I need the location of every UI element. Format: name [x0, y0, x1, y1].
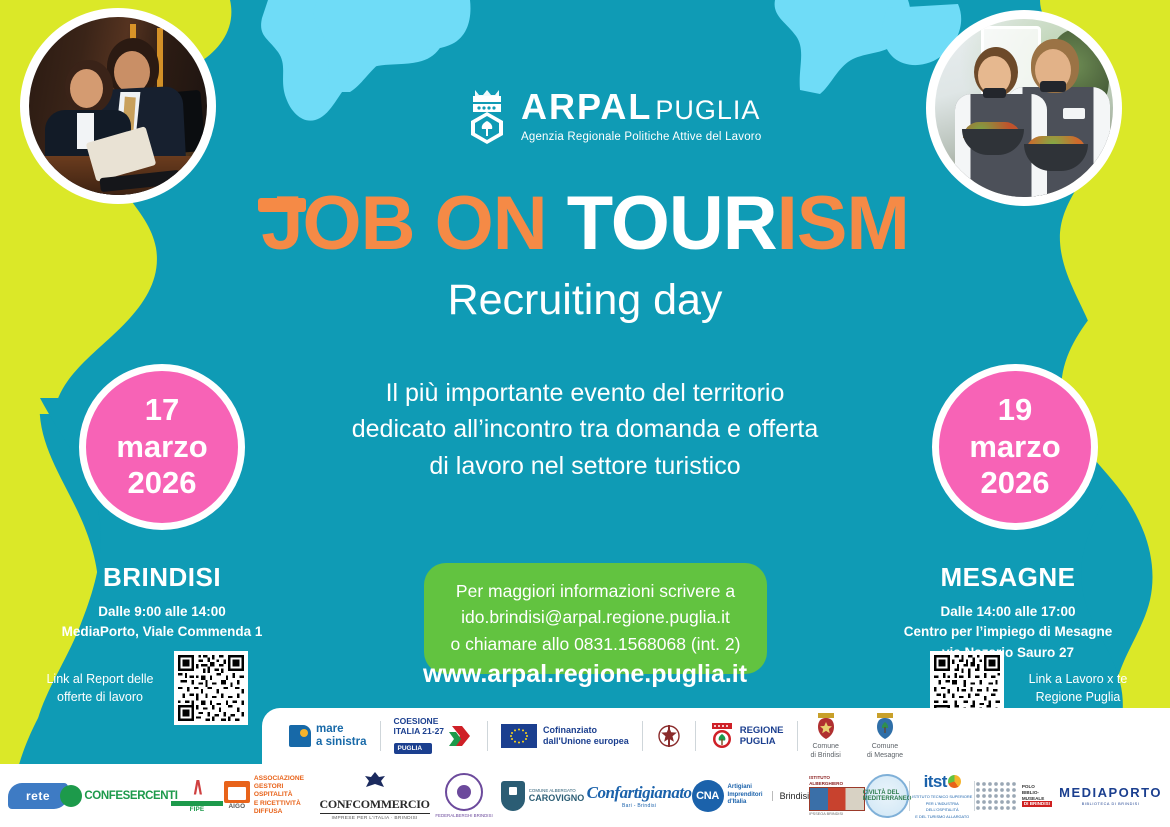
itst-sub-1: ISTITUTO TECNICO SUPERIORE	[910, 794, 974, 799]
photo-hotel-reception	[20, 8, 216, 204]
itst-sub-2: PER L'INDUSTRIA DELL'OSPITALITÀ	[910, 801, 974, 811]
logo-carovigno: COMUNE ALBERGATO CAROVIGNO	[498, 773, 586, 819]
fipe-mark-icon: /\	[171, 778, 223, 800]
partner-logo-strip: rete CONFESERCENTI /\ FIPE AIGO	[0, 764, 1170, 827]
carovigno-group: COMUNE ALBERGATO CAROVIGNO	[501, 781, 585, 811]
qr-block-report[interactable]: Link al Report delle offerte di lavoro	[40, 651, 248, 725]
logo-civilta-mediterraneo: CIVILTÀ DEL MEDITERRANEO	[865, 773, 909, 819]
itst-wordmark: itst	[910, 772, 974, 792]
mare-logo-text: mare a sinistra	[316, 723, 367, 748]
carovigno-text: COMUNE ALBERGATO CAROVIGNO	[529, 788, 585, 804]
logo-itst: itst ISTITUTO TECNICO SUPERIORE PER L'IN…	[910, 773, 974, 819]
carovigno-shield-icon	[501, 781, 525, 811]
eagle-svg	[361, 770, 389, 790]
bow-tie	[1040, 81, 1066, 92]
regione-text: REGIONE PUGLIA	[740, 725, 784, 748]
federalberghi-group: FEDERALBERGHI BRINDISI	[435, 773, 492, 818]
carovigno-sub: COMUNE ALBERGATO	[529, 788, 585, 793]
qr-code-icon	[178, 655, 244, 721]
eu-group: Cofinanziato dall'Unione europea	[501, 724, 629, 748]
aigo-line-2: GESTORI OSPITALITÀ	[254, 783, 320, 799]
logo-confcommercio: CONFCOMMERCIO IMPRESE PER L'ITALIA · BRI…	[320, 773, 430, 819]
comune-mesagne-text: Comune di Mesagne	[867, 743, 903, 761]
eu-flag-icon	[501, 724, 537, 748]
eu-line-1: Cofinanziato	[543, 725, 629, 736]
date-year: 2026	[981, 465, 1050, 502]
itst-group: itst ISTITUTO TECNICO SUPERIORE PER L'IN…	[910, 772, 974, 818]
title-part-tour: TOUR	[567, 181, 777, 266]
coesione-text: COESIONE ITALIA 21-27 PUGLIA	[394, 717, 445, 755]
mediaporto-group: MEDIAPORTO BIBLIOTECA DI BRINDISI	[1059, 786, 1162, 806]
eu-flag-svg	[501, 724, 537, 748]
date-day: 19	[998, 392, 1032, 429]
mare-line-1: mare	[316, 723, 367, 736]
regione-line-2: PUGLIA	[740, 736, 784, 747]
venue-hours: Dalle 14:00 alle 17:00	[858, 602, 1158, 622]
date-badge-brindisi: 17 marzo 2026	[79, 364, 245, 530]
confcommercio-name: CONFCOMMERCIO	[320, 797, 430, 814]
arpal-crest-icon	[465, 88, 509, 144]
qr-label-report: Link al Report delle offerte di lavoro	[40, 670, 160, 706]
aigo-text: ASSOCIAZIONE GESTORI OSPITALITÀ E RICETT…	[254, 775, 320, 816]
alberghiero-banner-icon	[809, 787, 865, 811]
confesercenti-group: CONFESERCENTI	[60, 785, 177, 807]
logo-istituto-alberghiero: ISTITUTO ALBERGHIERO IPSSEOA BRINDISI	[809, 773, 865, 819]
qr-label-line-2: Regione Puglia	[1018, 688, 1138, 706]
arpal-name: ARPAL	[521, 89, 652, 125]
regione-line-1: REGIONE	[740, 725, 784, 736]
comune-crest-svg	[873, 711, 897, 741]
qr-label-line-1: Link al Report delle	[40, 670, 160, 688]
logo-cna: CNA Artigiani Imprenditori d'Italia Brin…	[692, 773, 810, 819]
cna-text: Artigiani Imprenditori d'Italia	[728, 784, 763, 807]
eu-text: Cofinanziato dall'Unione europea	[543, 725, 629, 748]
eu-line-2: dall'Unione europea	[543, 736, 629, 747]
aigo-line-1: ASSOCIAZIONE	[254, 775, 320, 783]
comune-brindisi-text: Comune di Brindisi	[811, 743, 841, 761]
coesione-line-2: ITALIA 21-27	[394, 727, 445, 737]
aigo-line-3: E RICETTIVITÀ DIFFUSA	[254, 800, 320, 816]
polo-line-3: DI BRINDISI	[1022, 801, 1052, 807]
confcommercio-eagle-icon	[320, 770, 430, 795]
arpal-subtitle: Agenzia Regionale Politiche Attive del L…	[521, 132, 761, 144]
polo-map-icon	[975, 781, 1016, 811]
arpal-logo-text: ARPAL PUGLIA Agenzia Regionale Politiche…	[521, 89, 761, 144]
alberghiero-sub: IPSSEOA BRINDISI	[809, 812, 865, 816]
republic-emblem-icon	[656, 721, 682, 751]
logo-confartigianato: Confartigianato Bari - Brindisi	[587, 773, 692, 819]
mare-line-2: a sinistra	[316, 736, 367, 749]
photo-hotel-reception-image	[29, 17, 207, 195]
restaurant-scene	[935, 19, 1113, 197]
comune-line-1: Comune	[867, 743, 903, 752]
logo-regione-puglia: REGIONE PUGLIA	[696, 721, 797, 751]
confesercenti-leaf-icon	[60, 785, 82, 807]
carovigno-name: CAROVIGNO	[529, 793, 585, 804]
venue-block-brindisi: BRINDISI Dalle 9:00 alle 14:00 MediaPort…	[12, 562, 312, 643]
aigo-house-icon	[224, 781, 250, 803]
federalberghi-name: FEDERALBERGHI BRINDISI	[435, 813, 492, 818]
description-line-2: dedicato all’incontro tra domanda e offe…	[285, 411, 885, 447]
comune-mesagne-group: Comune di Mesagne	[867, 711, 903, 761]
federalberghi-mark-icon	[445, 773, 483, 811]
venue-address: MediaPorto, Viale Commenda 1	[12, 622, 312, 642]
reception-scene	[29, 17, 207, 195]
civilta-mark-icon: CIVILTÀ DEL MEDITERRANEO	[865, 774, 909, 818]
confartigianato-sub: Bari - Brindisi	[587, 803, 692, 809]
logo-rete: rete	[8, 773, 68, 819]
cna-mark-icon: CNA	[692, 780, 724, 812]
arrows-svg	[448, 724, 474, 748]
aigo-acronym: AIGO	[224, 803, 250, 811]
city-name: MESAGNE	[858, 562, 1158, 593]
polo-line-2: BIBLIO-MUSEALE	[1022, 790, 1059, 802]
italy-arrows-icon	[448, 724, 474, 748]
date-badge-mesagne: 19 marzo 2026	[932, 364, 1098, 530]
coesione-badge: PUGLIA	[394, 743, 433, 754]
mare-mark-icon	[289, 725, 311, 747]
logo-coesione-italia: COESIONE ITALIA 21-27 PUGLIA	[381, 717, 488, 755]
contact-info-box: Per maggiori informazioni scrivere a ido…	[424, 563, 767, 674]
logo-mare-a-sinistra: mare a sinistra	[276, 723, 380, 748]
regione-crest-svg	[709, 721, 735, 751]
mediaporto-sub: BIBLIOTECA DI BRINDISI	[1059, 802, 1162, 806]
alberghiero-line-2: ALBERGHIERO	[809, 781, 865, 786]
date-day: 17	[145, 392, 179, 429]
comune-brindisi-crest-icon	[814, 711, 838, 741]
venue-address: Centro per l’impiego di Mesagne	[858, 622, 1158, 642]
logo-polo-biblio-museale: POLO BIBLIO-MUSEALE DI BRINDISI	[975, 773, 1059, 819]
logo-mediaporto: MEDIAPORTO BIBLIOTECA DI BRINDISI	[1059, 773, 1162, 819]
itst-dot-icon	[948, 775, 961, 788]
crest-svg	[465, 88, 509, 144]
cna-city: Brindisi	[772, 791, 810, 801]
qr-label-line-1: Link a Lavoro x te	[1018, 670, 1138, 688]
polo-text: POLO BIBLIO-MUSEALE DI BRINDISI	[1022, 784, 1059, 808]
confartigianato-name: Confartigianato	[587, 783, 692, 803]
alberghiero-group: ISTITUTO ALBERGHIERO IPSSEOA BRINDISI	[809, 775, 865, 815]
page-subtitle: Recruiting day	[0, 276, 1170, 325]
mediaporto-name: MEDIAPORTO	[1059, 786, 1162, 799]
logo-comune-brindisi: Comune di Brindisi	[798, 711, 854, 761]
itst-name: itst	[924, 772, 947, 791]
comune-brindisi-group: Comune di Brindisi	[811, 711, 841, 761]
logo-repubblica-italiana	[643, 721, 695, 751]
description-line-3: di lavoro nel settore turistico	[285, 448, 885, 484]
name-badge	[1063, 108, 1085, 119]
regione-group: REGIONE PUGLIA	[709, 721, 784, 751]
comune-line-2: di Brindisi	[811, 752, 841, 761]
title-part-job-on: JOB ON	[261, 181, 567, 266]
comune-line-1: Comune	[811, 743, 841, 752]
cna-group: CNA Artigiani Imprenditori d'Italia Brin…	[692, 780, 810, 812]
comune-mesagne-crest-icon	[873, 711, 897, 741]
person-face	[70, 69, 103, 108]
arpal-wordmark: ARPAL PUGLIA	[521, 89, 761, 125]
date-month: marzo	[969, 429, 1060, 466]
aigo-mark-wrap: AIGO	[224, 781, 250, 811]
arpal-logo: ARPAL PUGLIA Agenzia Regionale Politiche…	[465, 82, 765, 150]
bow-tie	[983, 88, 1006, 98]
contact-line-1: Per maggiori informazioni scrivere a	[434, 578, 757, 604]
logo-comune-mesagne: Comune di Mesagne	[854, 711, 916, 761]
venue-hours: Dalle 9:00 alle 14:00	[12, 602, 312, 622]
confcommercio-group: CONFCOMMERCIO IMPRESE PER L'ITALIA · BRI…	[320, 770, 430, 821]
qr-code-report[interactable]	[174, 651, 248, 725]
qr-label-line-2: offerte di lavoro	[40, 688, 160, 706]
logo-european-union: Cofinanziato dall'Unione europea	[488, 724, 642, 748]
fipe-name: FIPE	[171, 806, 223, 814]
confcommercio-sub: IMPRESE PER L'ITALIA · BRINDISI	[320, 816, 430, 821]
city-name: BRINDISI	[12, 562, 312, 593]
cna-line-1: Artigiani	[728, 784, 763, 792]
page-title: JOB ON TOURISM	[0, 186, 1170, 262]
cna-line-2: Imprenditori	[728, 792, 763, 800]
logo-fipe: /\ FIPE	[170, 773, 224, 819]
qr-label-lavoro: Link a Lavoro x te Regione Puglia	[1018, 670, 1138, 706]
event-description: Il più importante evento del territorio …	[285, 375, 885, 484]
regione-crest-icon	[709, 721, 735, 751]
contact-email[interactable]: ido.brindisi@arpal.regione.puglia.it	[434, 604, 757, 630]
photo-waiters-image	[935, 19, 1113, 197]
comune-crest-svg	[814, 711, 838, 741]
photo-waiters	[926, 10, 1122, 206]
republic-emblem-svg	[656, 721, 682, 751]
logo-aigo: AIGO ASSOCIAZIONE GESTORI OSPITALITÀ E R…	[224, 773, 320, 819]
arpal-region: PUGLIA	[655, 97, 760, 124]
comune-line-2: di Mesagne	[867, 752, 903, 761]
poster-root: ARPAL PUGLIA Agenzia Regionale Politiche…	[0, 0, 1170, 827]
confesercenti-name: CONFESERCENTI	[84, 790, 177, 802]
fipe-group: /\ FIPE	[171, 778, 223, 814]
date-month: marzo	[116, 429, 207, 466]
polo-group: POLO BIBLIO-MUSEALE DI BRINDISI	[975, 781, 1059, 811]
coesione-group: COESIONE ITALIA 21-27 PUGLIA	[394, 717, 475, 755]
mare-logo-group: mare a sinistra	[289, 723, 367, 748]
confartigianato-group: Confartigianato Bari - Brindisi	[587, 783, 692, 809]
description-line-1: Il più importante evento del territorio	[285, 375, 885, 411]
rete-logo: rete	[8, 783, 68, 809]
contact-phone: o chiamare allo 0831.1568068 (int. 2)	[434, 631, 757, 657]
venue-block-mesagne: MESAGNE Dalle 14:00 alle 17:00 Centro pe…	[858, 562, 1158, 663]
aigo-group: AIGO ASSOCIAZIONE GESTORI OSPITALITÀ E R…	[224, 775, 320, 816]
institutional-logo-bar: mare a sinistra COESIONE ITALIA 21-27 PU…	[262, 708, 1170, 764]
logo-confesercenti: CONFESERCENTI	[68, 773, 170, 819]
itst-sub-3: E DEL TURISMO ALLARGATO	[910, 814, 974, 819]
date-year: 2026	[128, 465, 197, 502]
logo-federalberghi: FEDERALBERGHI BRINDISI	[430, 773, 499, 819]
cna-line-3: d'Italia	[728, 799, 763, 807]
title-part-ism: ISM	[777, 181, 909, 266]
